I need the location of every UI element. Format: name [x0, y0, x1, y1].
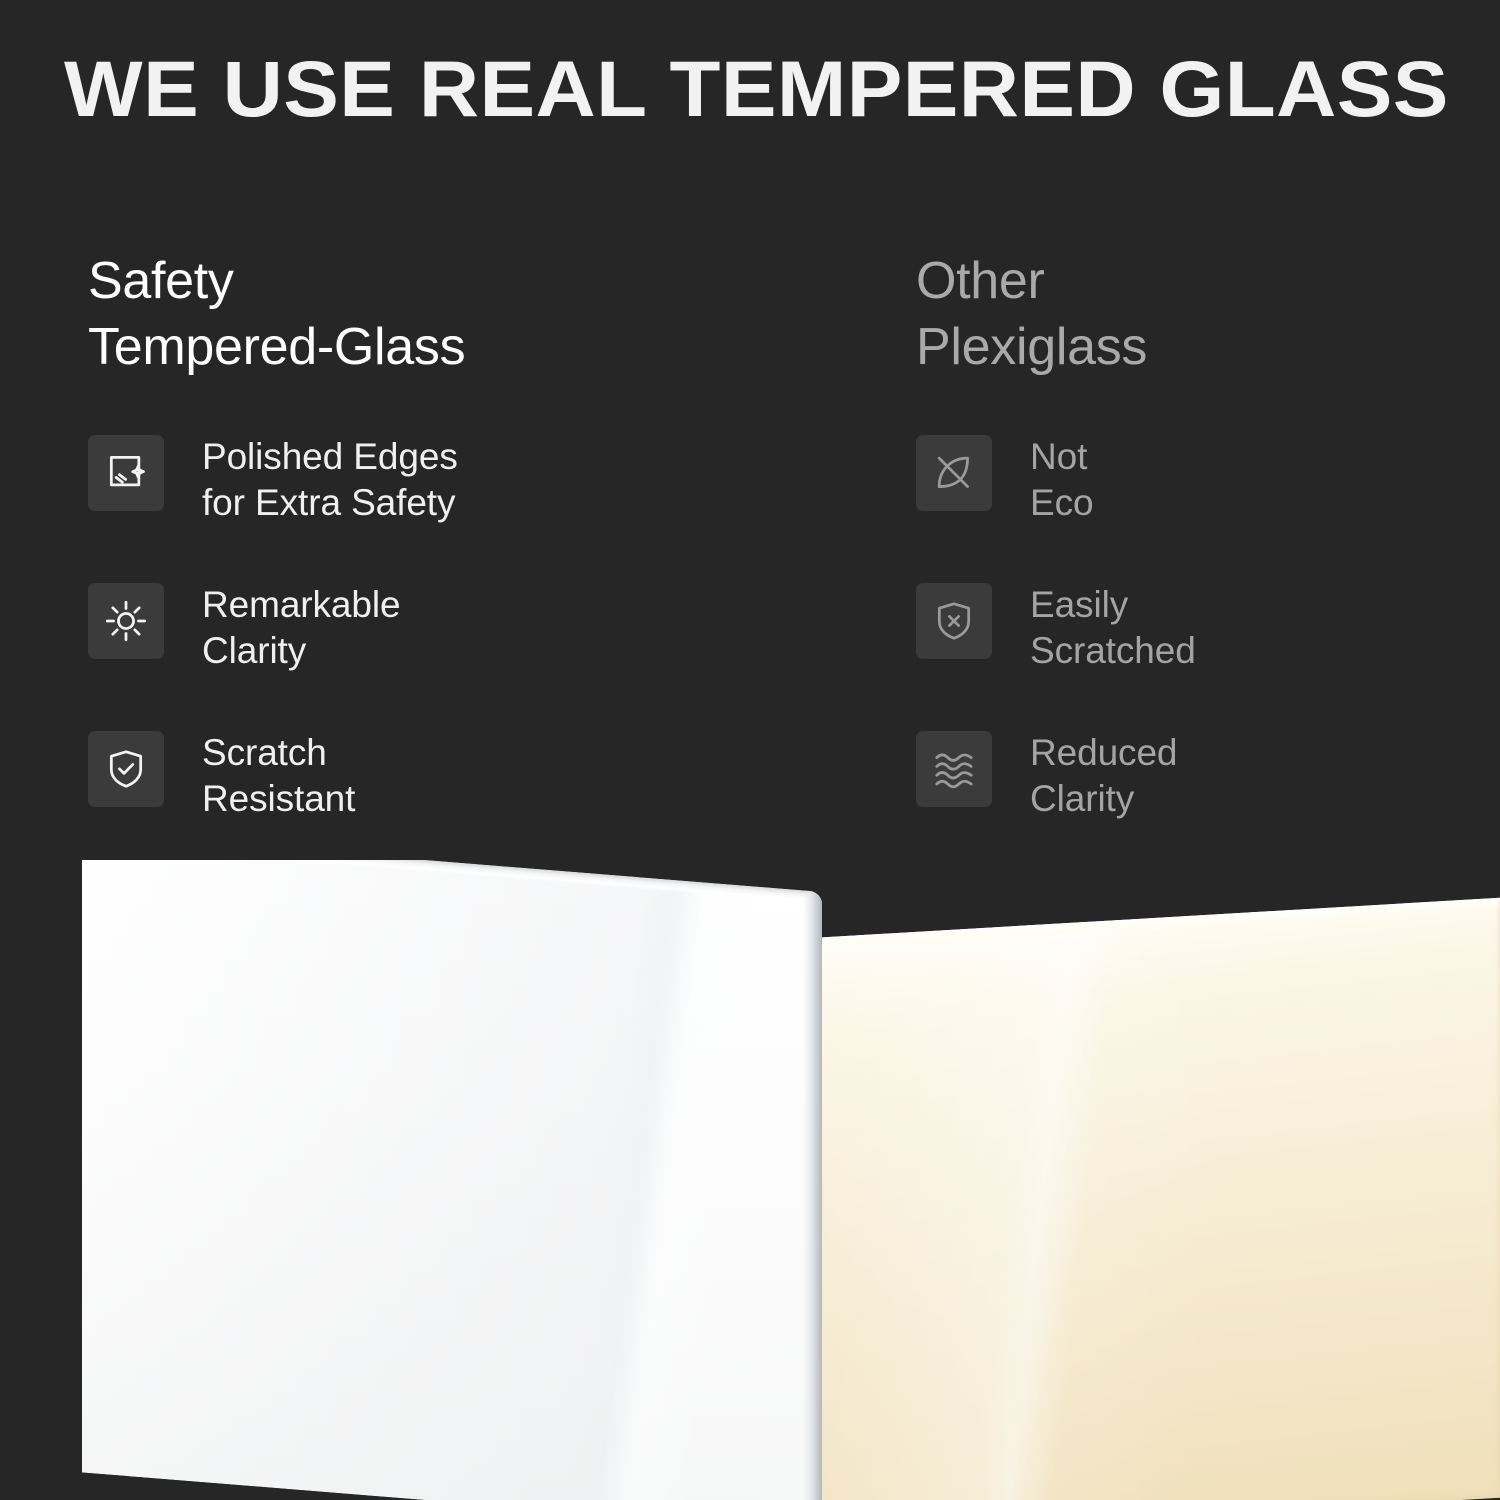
feature-list: Polished Edges for Extra Safety Remarkab…	[88, 432, 648, 876]
feature-label: Reduced Clarity	[1030, 728, 1177, 822]
product-panels	[0, 860, 1500, 1500]
feature-row: Not Eco	[916, 432, 1476, 580]
comparison-columns: Safety Tempered-Glass Polished Edges for…	[0, 248, 1500, 868]
polished-glass-pane-icon	[88, 435, 164, 511]
wavy-lines-icon	[916, 731, 992, 807]
feature-row: Easily Scratched	[916, 580, 1476, 728]
feature-row: Polished Edges for Extra Safety	[88, 432, 648, 580]
feature-label: Easily Scratched	[1030, 580, 1196, 674]
feature-label: Not Eco	[1030, 432, 1093, 526]
plexiglass-panel	[812, 897, 1500, 1500]
column-other-plexiglass: Other Plexiglass Not Eco	[916, 248, 1476, 876]
feature-list: Not Eco Easily Scratched	[916, 432, 1476, 876]
column-safety-tempered-glass: Safety Tempered-Glass Polished Edges for…	[88, 248, 648, 876]
sun-brightness-icon	[88, 583, 164, 659]
column-title: Other Plexiglass	[916, 248, 1476, 380]
column-title: Safety Tempered-Glass	[88, 248, 648, 380]
shield-check-icon	[88, 731, 164, 807]
leaf-slash-icon	[916, 435, 992, 511]
feature-label: Scratch Resistant	[202, 728, 355, 822]
feature-row: Reduced Clarity	[916, 728, 1476, 876]
shield-x-icon	[916, 583, 992, 659]
feature-row: Remarkable Clarity	[88, 580, 648, 728]
feature-label: Remarkable Clarity	[202, 580, 400, 674]
page-headline: WE USE REAL TEMPERED GLASS	[64, 44, 1500, 134]
feature-row: Scratch Resistant	[88, 728, 648, 876]
feature-label: Polished Edges for Extra Safety	[202, 432, 458, 526]
tempered-glass-panel	[82, 860, 822, 1500]
